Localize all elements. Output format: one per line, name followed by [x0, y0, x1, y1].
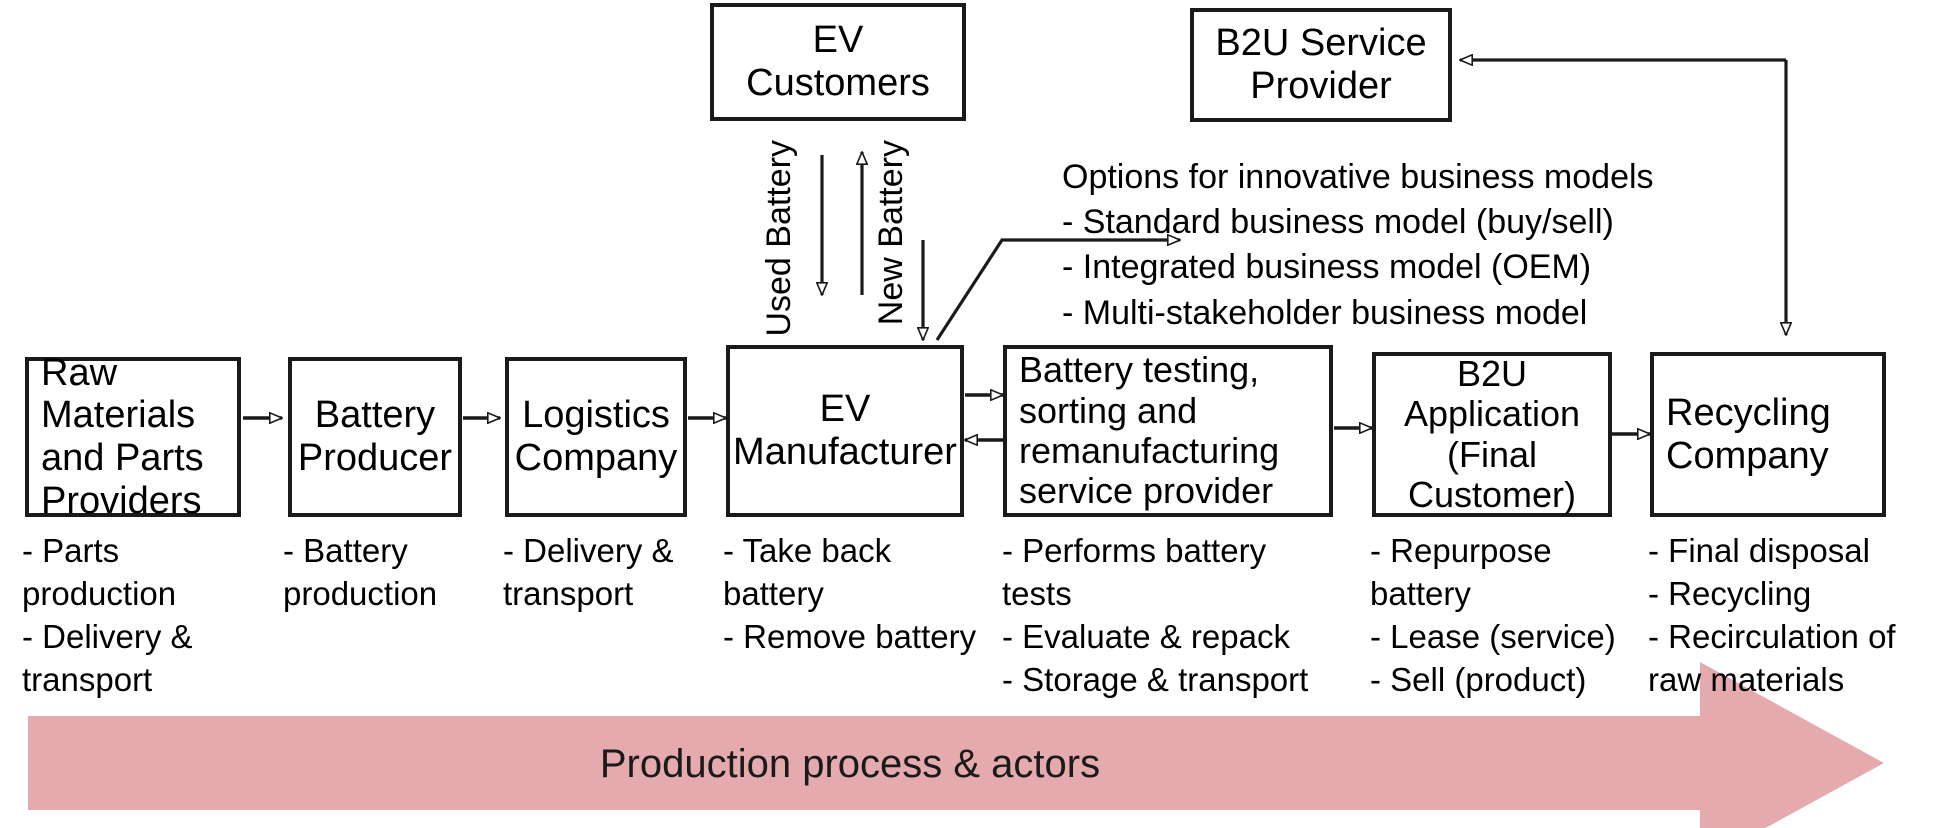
node-ev-customers-label: EV Customers: [714, 19, 962, 104]
node-b2u-service-provider[interactable]: B2U Service Provider: [1190, 8, 1452, 122]
bullets-battery-producer: - Battery production: [283, 530, 483, 616]
node-b2u-service-provider-label: B2U Service Provider: [1194, 22, 1448, 107]
node-battery-testing-sorting-remanufacturing[interactable]: Battery testing, sorting and remanufactu…: [1003, 345, 1333, 517]
bullets-recycling-company: - Final disposal - Recycling - Recircula…: [1648, 530, 1938, 702]
options-note: Options for innovative business models -…: [1062, 155, 1682, 336]
node-logistics-company[interactable]: Logistics Company: [505, 357, 687, 517]
node-ev-manufacturer-label: EV Manufacturer: [730, 388, 960, 473]
bullets-logistics-company: - Delivery & transport: [503, 530, 703, 616]
diagram-canvas: EV Customers B2U Service Provider Used B…: [0, 0, 1944, 828]
node-recycling-company[interactable]: Recycling Company: [1650, 352, 1886, 517]
node-battery-producer[interactable]: Battery Producer: [288, 357, 462, 517]
bullets-battery-testing-sorting-remanufacturing: - Performs battery tests - Evaluate & re…: [1002, 530, 1312, 702]
node-b2u-application-final-customer[interactable]: B2U Application (Final Customer): [1372, 352, 1612, 517]
bullets-b2u-application-final-customer: - Repurpose battery - Lease (service) - …: [1370, 530, 1660, 702]
node-raw-materials-and-parts-providers-label: Raw Materials and Parts Providers: [41, 352, 237, 522]
node-logistics-company-label: Logistics Company: [509, 394, 683, 479]
node-recycling-company-label: Recycling Company: [1666, 392, 1882, 477]
node-raw-materials-and-parts-providers[interactable]: Raw Materials and Parts Providers: [25, 357, 241, 517]
node-battery-testing-sorting-remanufacturing-label: Battery testing, sorting and remanufactu…: [1019, 350, 1329, 511]
node-ev-manufacturer[interactable]: EV Manufacturer: [726, 345, 964, 517]
node-battery-producer-label: Battery Producer: [292, 394, 458, 479]
flow-label-new-battery: New Battery: [872, 140, 911, 325]
flow-label-used-battery: Used Battery: [760, 140, 799, 337]
production-process-banner-label: Production process & actors: [0, 742, 1700, 787]
bullets-ev-manufacturer: - Take back battery - Remove battery: [723, 530, 1003, 659]
node-b2u-application-final-customer-label: B2U Application (Final Customer): [1376, 354, 1608, 515]
bullets-raw-materials-and-parts-providers: - Parts production - Delivery & transpor…: [22, 530, 237, 702]
node-ev-customers[interactable]: EV Customers: [710, 3, 966, 121]
